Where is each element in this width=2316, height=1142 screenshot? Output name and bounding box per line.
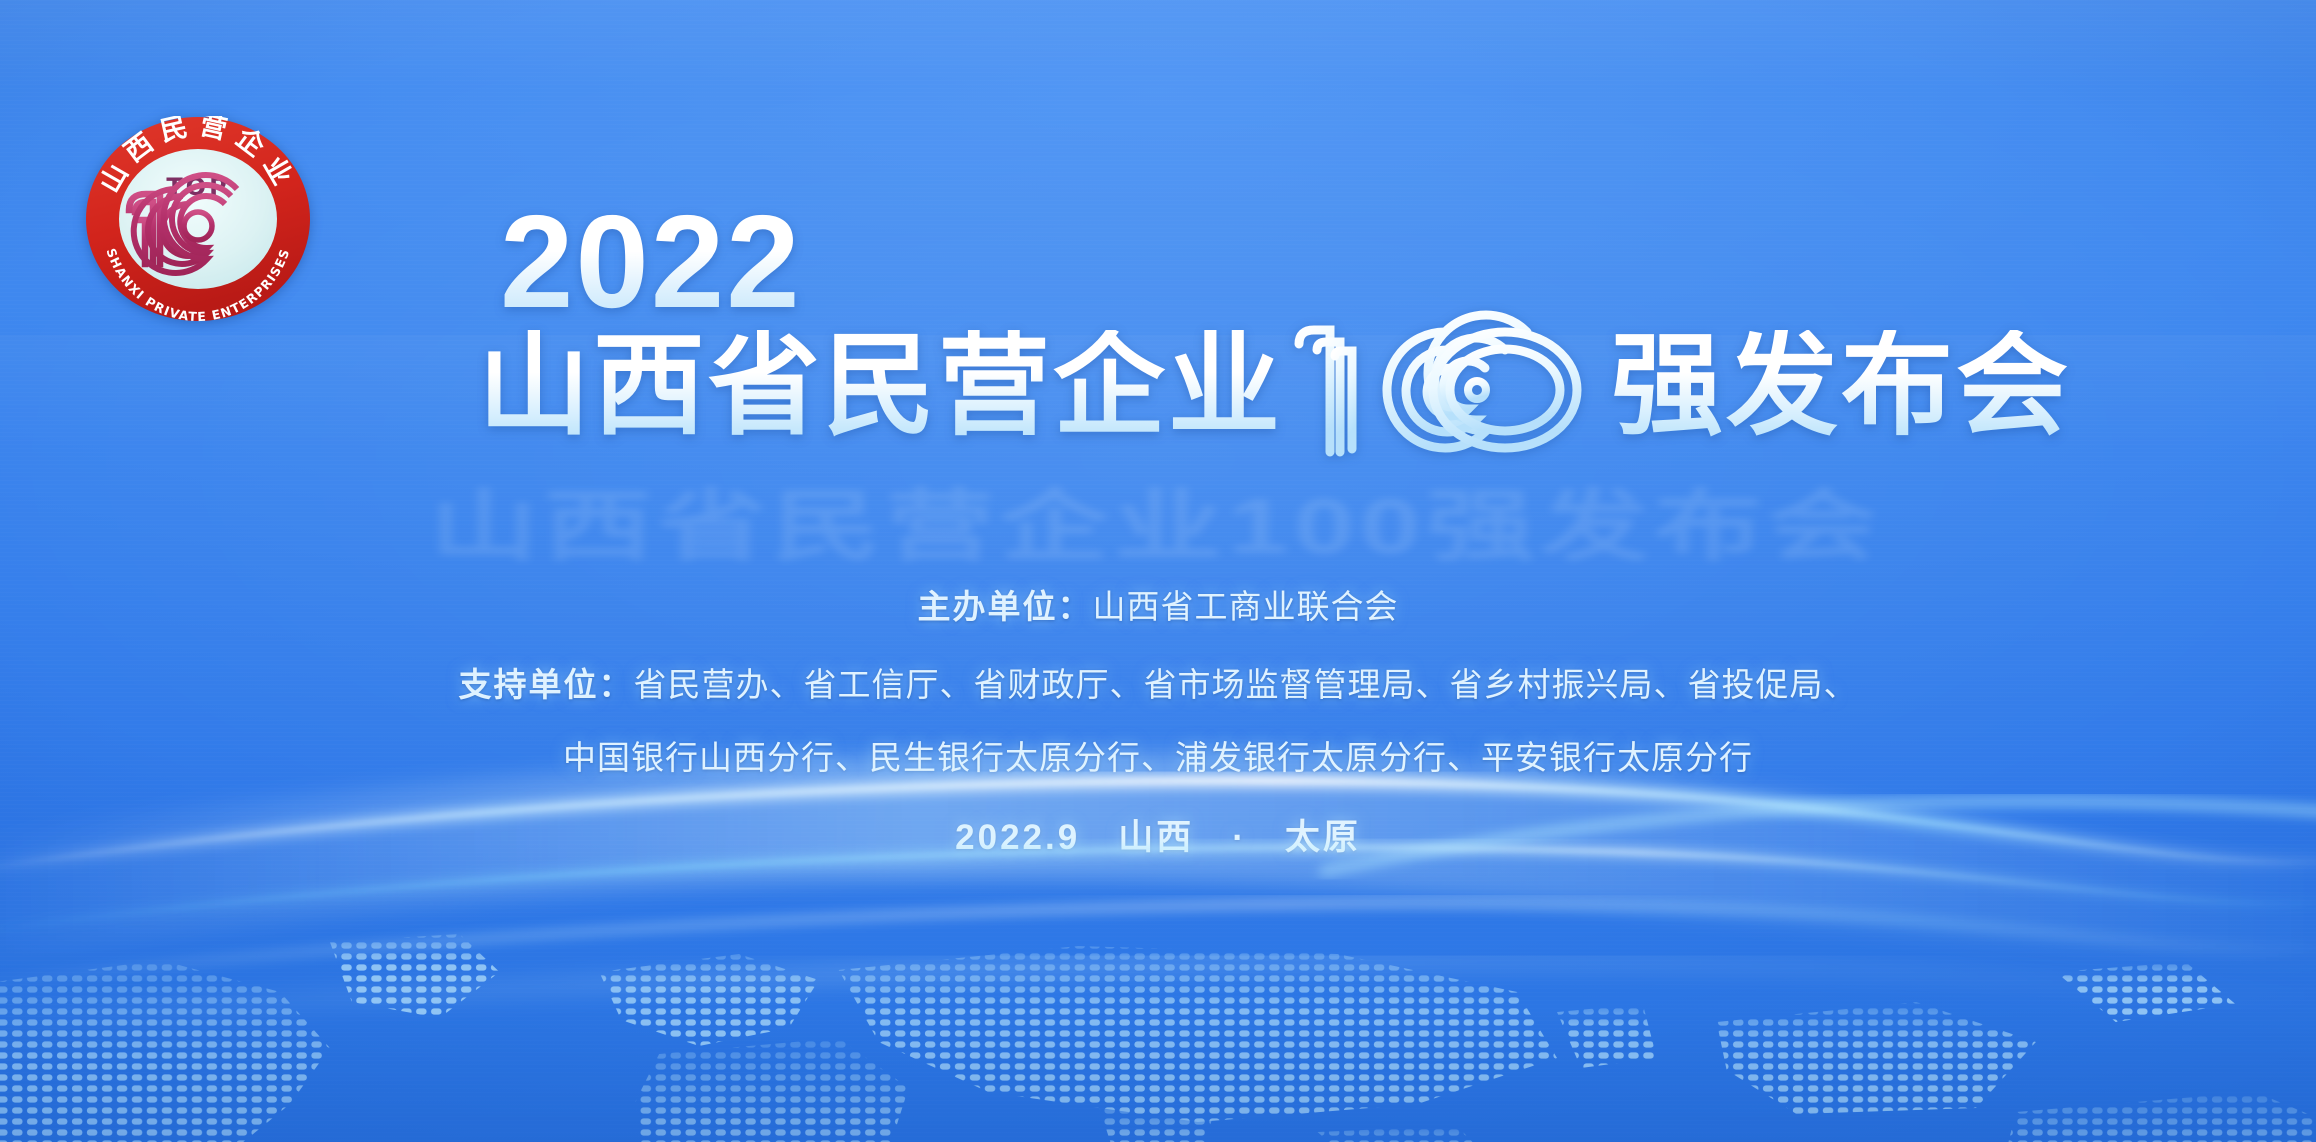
organizer-line: 主办单位：山西省工商业联合会 <box>0 590 2316 623</box>
headline-part-1: 山西省民营企业 <box>478 330 1283 442</box>
shanxi-top100-seal-logo: 山西民营企业 SHANXI PRIVATE ENTERPRISES TOP <box>85 116 311 322</box>
headline-part-2: 强发布会 <box>1611 330 2071 442</box>
support-line-1: 支持单位：省民营办、省工信厅、省财政厅、省市场监督管理局、省乡村振兴局、省投促局… <box>0 668 2316 701</box>
headline-row: 山西省民营企业 <box>478 318 2071 454</box>
support-label: 支持单位： <box>459 666 634 703</box>
headline-year: 2022 <box>500 196 802 328</box>
support-value-1: 省民营办、省工信厅、省财政厅、省市场监督管理局、省乡村振兴局、省投促局、 <box>634 666 1858 703</box>
background-ghost-title: 山西省民营企业100强发布会 <box>430 464 1930 586</box>
bottom-decoration <box>0 722 2316 1142</box>
event-backdrop-screen: 山西省民营企业100强发布会 <box>0 0 2316 1142</box>
dotted-world-map <box>0 842 2316 1142</box>
hundred-spiral-logo <box>1277 310 1607 470</box>
organizer-label: 主办单位： <box>918 588 1093 625</box>
organizer-value: 山西省工商业联合会 <box>1093 588 1399 625</box>
